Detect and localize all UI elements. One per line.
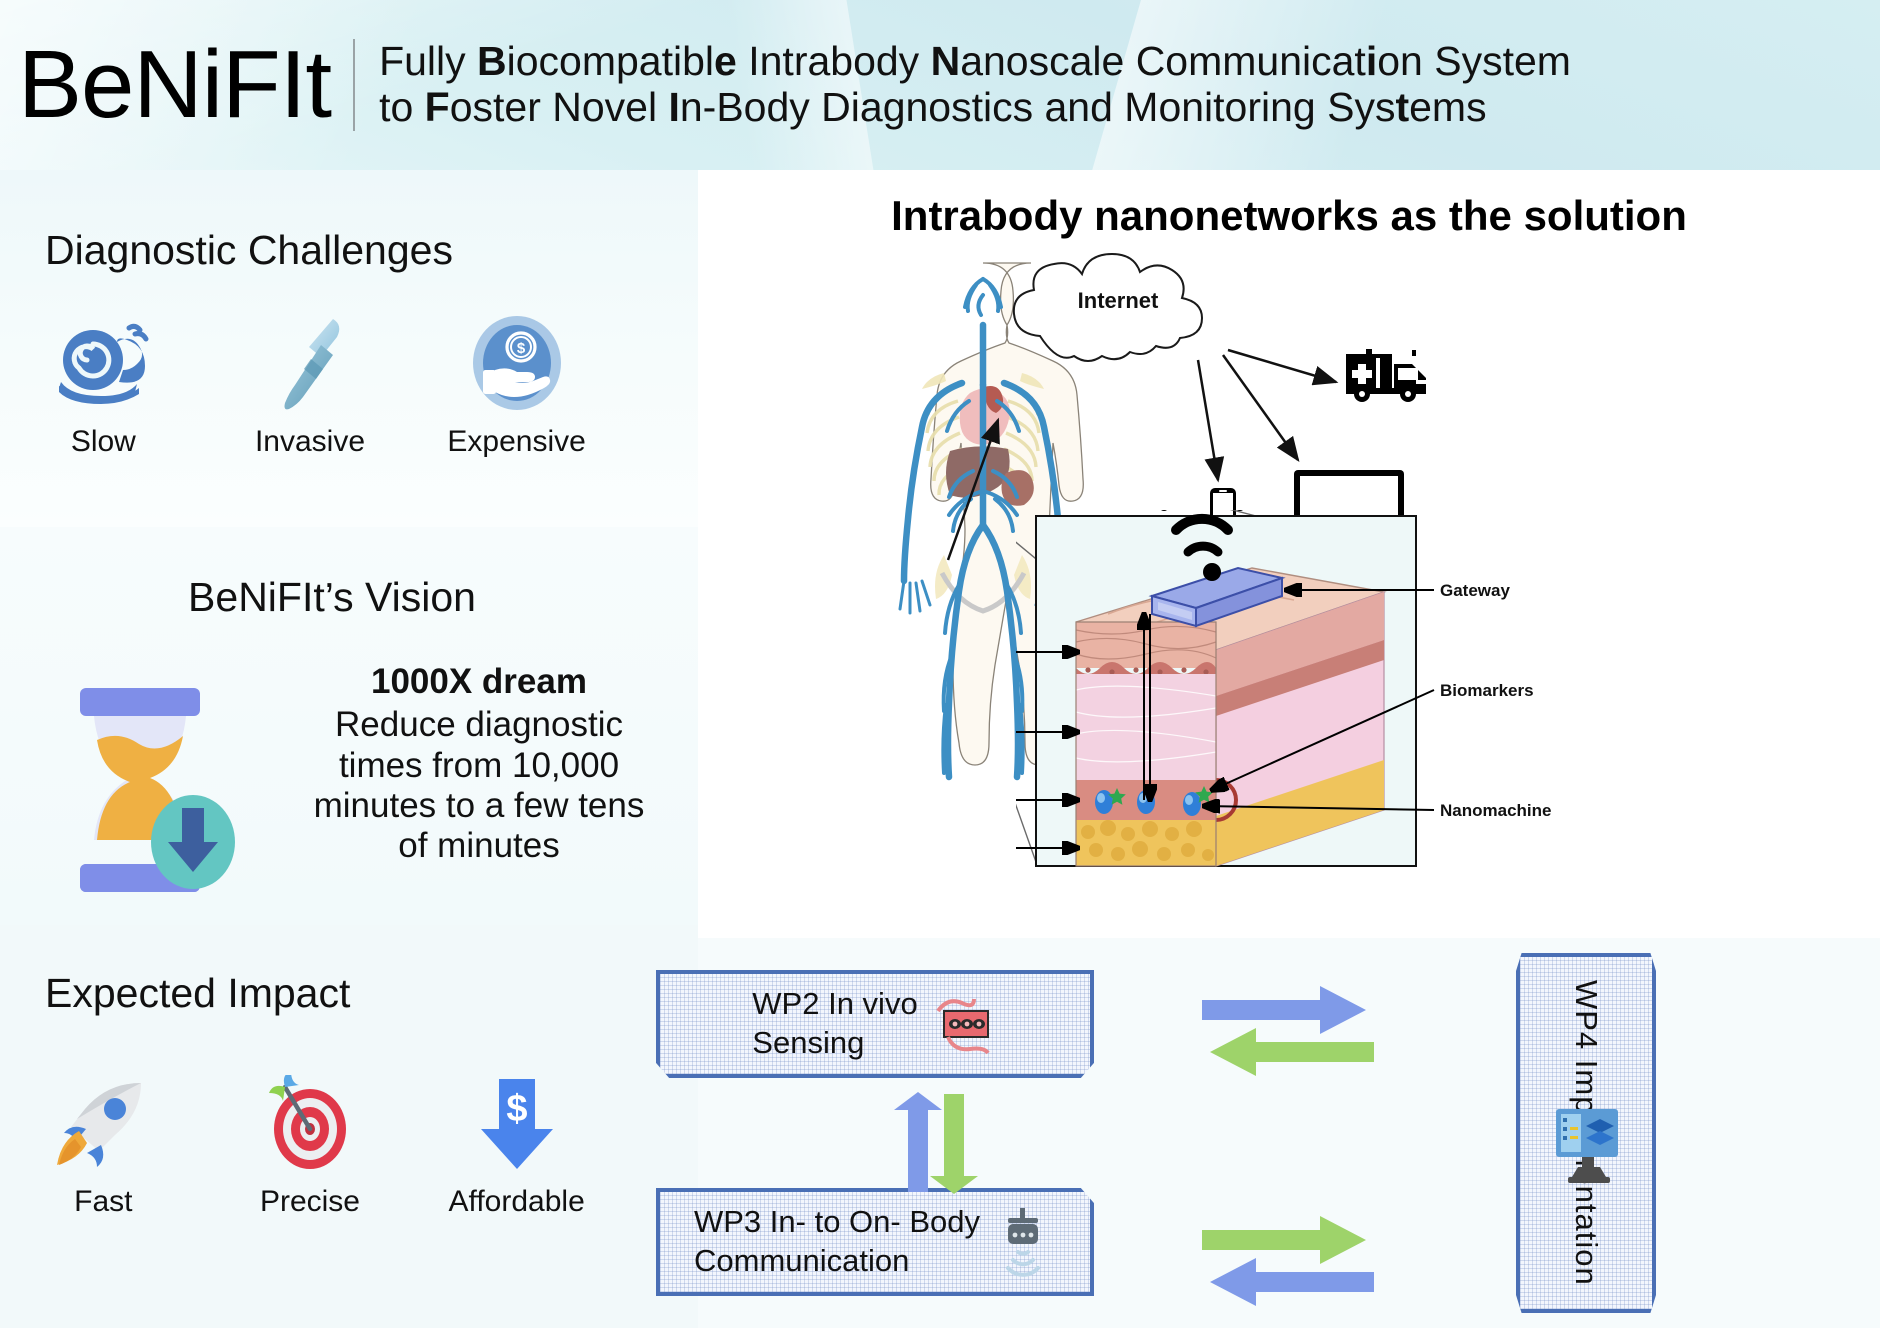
diagnostic-challenges-icon-row: Slow Invasive [0, 310, 620, 459]
hourglass-icon [50, 682, 250, 897]
solution-title: Intrabody nanonetworks as the solution [698, 192, 1880, 240]
svg-text:$: $ [516, 340, 525, 357]
diagnostic-challenges-panel: Diagnostic Challenges Slow [0, 170, 698, 527]
snail-icon [55, 310, 151, 415]
impact-label: Precise [260, 1185, 360, 1219]
cloud-label: Internet [1078, 288, 1159, 313]
vision-content: 1000X dream Reduce diagnostic times from… [0, 662, 698, 897]
challenge-item-slow: Slow [8, 310, 198, 459]
challenge-label: Invasive [255, 425, 365, 459]
computer-stack-icon [1554, 1107, 1626, 1189]
impact-label: Fast [74, 1185, 132, 1219]
work-package-wp2[interactable]: WP2 In vivo Sensing [656, 970, 1094, 1078]
skin-label-nanomachine: Nanomachine [1440, 801, 1551, 820]
expected-impact-panel: Expected Impact Fast [0, 925, 698, 1328]
skin-cross-section-diagram: Epidermis Dermis Capillary Subcutaneous … [1016, 510, 1836, 915]
ambulance-icon [1346, 349, 1426, 402]
arrow-internet-to-ambulance [1228, 350, 1336, 382]
vision-text-block: 1000X dream Reduce diagnostic times from… [300, 662, 670, 866]
expected-impact-title: Expected Impact [45, 970, 350, 1017]
arrows-wp3-wp4 [1198, 1212, 1378, 1312]
vision-headline: 1000X dream [300, 662, 658, 702]
arrows-wp2-wp3 [888, 1090, 988, 1196]
expected-impact-icon-row: Fast Precise $ [0, 1070, 620, 1219]
solution-panel: Intrabody nanonetworks as the solution [698, 170, 1880, 938]
impact-item-fast: Fast [8, 1070, 198, 1219]
skin-label-gateway: Gateway [1440, 581, 1510, 600]
subtitle-line-2: to Foster Novel In-Body Diagnostics and … [379, 85, 1571, 131]
brand-divider [353, 39, 355, 131]
brand-logo: BeNiFIt [0, 37, 331, 133]
internet-cloud: Internet [998, 240, 1238, 385]
arrows-wp2-wp4 [1198, 982, 1378, 1082]
wp3-label: WP3 In- to On- Body Communication [694, 1203, 980, 1281]
wireless-transmitter-icon [996, 1206, 1056, 1278]
hourglass-group [0, 662, 300, 897]
blood-vessel-icon [934, 993, 998, 1055]
work-package-wp3[interactable]: WP3 In- to On- Body Communication [656, 1188, 1094, 1296]
rocket-icon [53, 1070, 153, 1175]
svg-text:$: $ [506, 1088, 527, 1130]
wp2-label: WP2 In vivo Sensing [752, 985, 917, 1063]
vision-title: BeNiFIt’s Vision [0, 574, 698, 621]
vision-body: Reduce diagnostic times from 10,000 minu… [314, 705, 645, 865]
challenge-item-invasive: Invasive [215, 310, 405, 459]
challenge-label: Expensive [447, 425, 585, 459]
money-in-hand-icon: $ [469, 310, 565, 415]
dollar-down-arrow-icon: $ [475, 1070, 559, 1175]
vision-panel: BeNiFIt’s Vision 1000X dream Reduce diag… [0, 527, 698, 925]
work-package-wp4[interactable]: WP4 Implementation [1516, 953, 1656, 1313]
diagnostic-challenges-title: Diagnostic Challenges [45, 227, 453, 274]
page-header: BeNiFIt Fully Biocompatible Intrabody Na… [0, 0, 1880, 170]
challenge-item-expensive: $ Expensive [422, 310, 612, 459]
impact-label: Affordable [449, 1185, 585, 1219]
page-subtitle: Fully Biocompatible Intrabody Nanoscale … [379, 39, 1571, 131]
target-dart-icon [263, 1070, 357, 1175]
impact-item-affordable: $ Affordable [422, 1070, 612, 1219]
impact-item-precise: Precise [215, 1070, 405, 1219]
work-packages-panel: WP2 In vivo Sensing WP3 In- to On- Body [698, 938, 1880, 1328]
scalpel-icon [267, 310, 353, 415]
skin-label-biomarkers: Biomarkers [1440, 681, 1534, 700]
challenge-label: Slow [71, 425, 136, 459]
subtitle-line-1: Fully Biocompatible Intrabody Nanoscale … [379, 39, 1571, 85]
